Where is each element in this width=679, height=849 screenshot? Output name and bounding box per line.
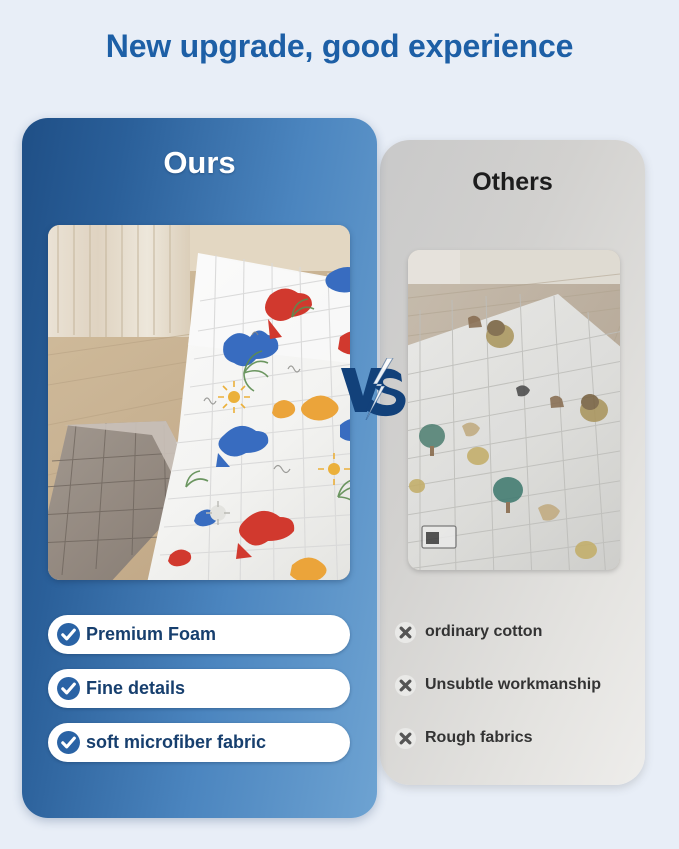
- ours-card: Ours: [22, 118, 377, 818]
- others-feature-row: ordinary cotton: [394, 616, 644, 648]
- ours-heading: Ours: [22, 145, 377, 181]
- ours-feature-label: soft microfiber fabric: [86, 732, 266, 753]
- check-circle-icon: [56, 676, 81, 701]
- others-feature-label: ordinary cotton: [425, 623, 542, 641]
- ours-feature-label: Premium Foam: [86, 624, 216, 645]
- ours-feature-pill: Premium Foam: [48, 615, 350, 654]
- others-feature-row: Unsubtle workmanship: [394, 669, 644, 701]
- others-feature-label: Rough fabrics: [425, 729, 533, 747]
- ours-feature-label: Fine details: [86, 678, 185, 699]
- others-card: Others: [380, 140, 645, 785]
- ours-feature-pill: Fine details: [48, 669, 350, 708]
- others-heading: Others: [380, 168, 645, 197]
- others-feature-label: Unsubtle workmanship: [425, 676, 601, 694]
- vs-badge: [333, 358, 409, 420]
- ours-feature-pill: soft microfiber fabric: [48, 723, 350, 762]
- check-circle-icon: [56, 730, 81, 755]
- x-circle-icon: [394, 621, 417, 644]
- ours-product-photo: [48, 225, 350, 580]
- check-circle-icon: [56, 622, 81, 647]
- others-product-photo: [408, 250, 620, 570]
- x-circle-icon: [394, 674, 417, 697]
- others-feature-row: Rough fabrics: [394, 722, 644, 754]
- page-title: New upgrade, good experience: [0, 28, 679, 65]
- x-circle-icon: [394, 727, 417, 750]
